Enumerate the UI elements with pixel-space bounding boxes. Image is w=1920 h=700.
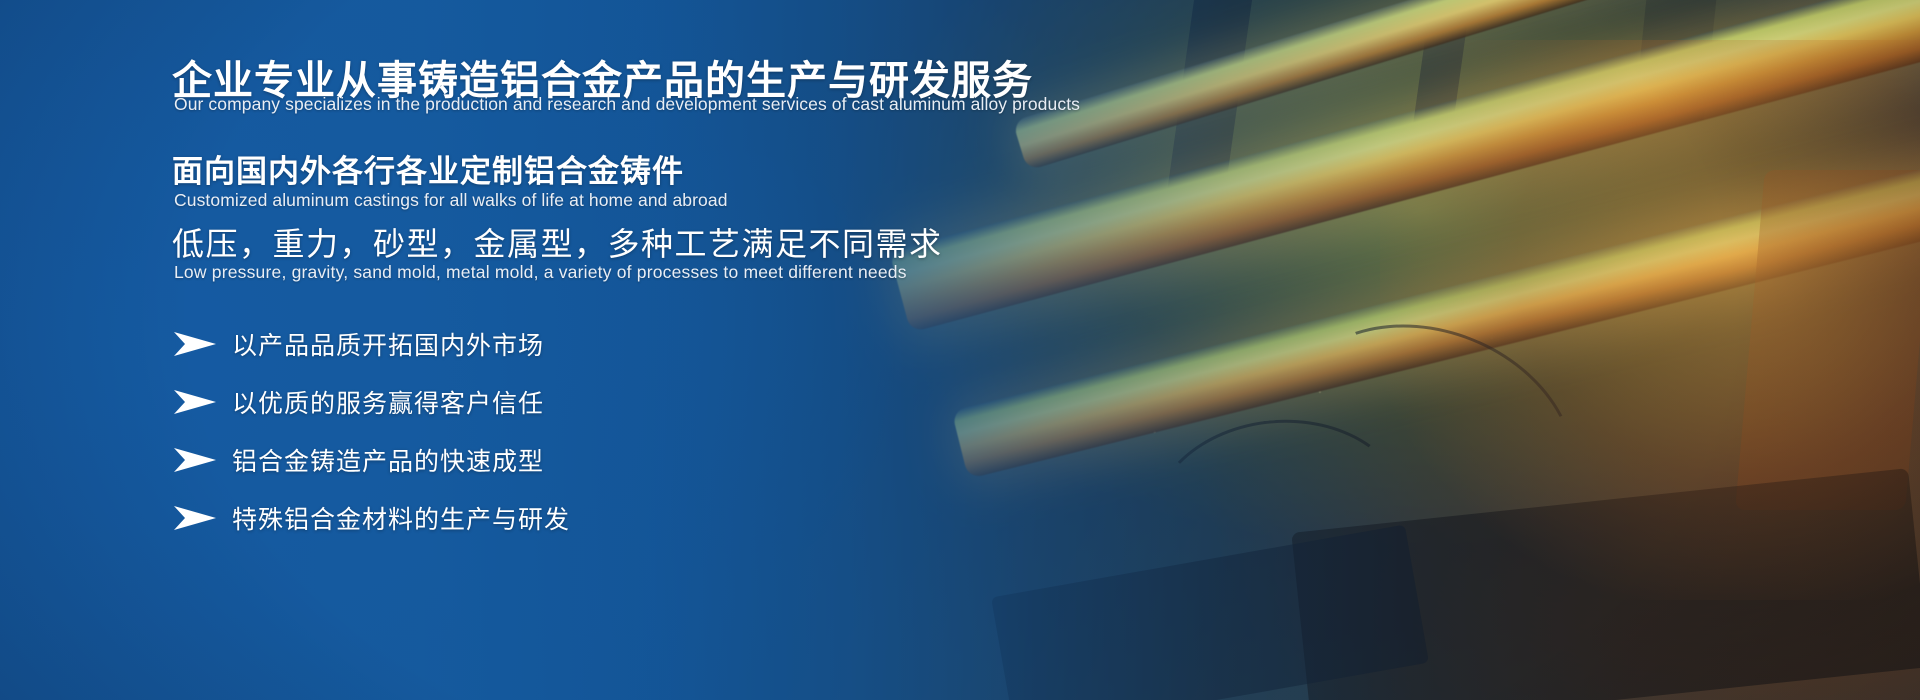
- banner-content: 企业专业从事铸造铝合金产品的生产与研发服务 Our company specia…: [172, 0, 1272, 700]
- list-item: 特殊铝合金材料的生产与研发: [172, 492, 872, 544]
- arrow-right-icon: [172, 329, 218, 359]
- arrow-right-icon: [172, 503, 218, 533]
- feature-list: 以产品品质开拓国内外市场 以优质的服务赢得客户信任 铝合金铸造产品的快速成型: [172, 318, 872, 544]
- headline-tertiary-zh: 低压，重力，砂型，金属型，多种工艺满足不同需求: [172, 219, 943, 265]
- list-item: 以优质的服务赢得客户信任: [172, 376, 872, 428]
- list-item: 以产品品质开拓国内外市场: [172, 318, 872, 370]
- list-item-label: 铝合金铸造产品的快速成型: [232, 442, 544, 478]
- headline-primary-en: Our company specializes in the productio…: [174, 94, 1080, 115]
- headline-secondary-en: Customized aluminum castings for all wal…: [174, 190, 728, 211]
- headline-secondary-zh: 面向国内外各行各业定制铝合金铸件: [172, 146, 684, 191]
- list-item-label: 以产品品质开拓国内外市场: [232, 326, 544, 362]
- arrow-right-icon: [172, 445, 218, 475]
- list-item-label: 特殊铝合金材料的生产与研发: [232, 500, 570, 536]
- headline-tertiary-en: Low pressure, gravity, sand mold, metal …: [174, 262, 907, 283]
- list-item: 铝合金铸造产品的快速成型: [172, 434, 872, 486]
- arrow-right-icon: [172, 387, 218, 417]
- list-item-label: 以优质的服务赢得客户信任: [232, 384, 544, 420]
- hero-banner: 企业专业从事铸造铝合金产品的生产与研发服务 Our company specia…: [0, 0, 1920, 700]
